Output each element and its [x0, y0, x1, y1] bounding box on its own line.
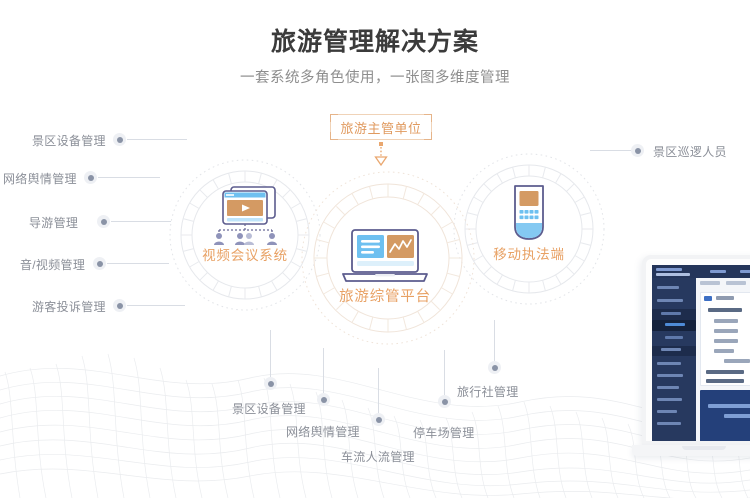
- bottom-connector-4: [494, 320, 495, 362]
- bottom-label-2: 车流人流管理: [341, 448, 415, 465]
- left-connector-3: [107, 263, 169, 264]
- badge-label: 旅游主管单位: [340, 118, 421, 137]
- laptop-hinge-notch: [682, 446, 726, 450]
- badge-corner-bottom-right: [424, 132, 432, 140]
- left-node-dot-1: [84, 171, 97, 184]
- bottom-label-0: 景区设备管理: [232, 400, 306, 417]
- bottom-node-dot-3: [438, 395, 451, 408]
- bottom-label-3: 停车场管理: [413, 424, 475, 441]
- laptop-screen: [642, 255, 750, 445]
- right-node-dot-0: [631, 144, 644, 157]
- left-node-dot-4: [113, 299, 126, 312]
- bottom-node-dot-1: [317, 393, 330, 406]
- dashboard-content: [696, 278, 750, 441]
- badge-corner-top-right: [424, 114, 432, 122]
- bottom-node-dot-0: [264, 377, 277, 390]
- bottom-connector-1: [323, 348, 324, 394]
- left-label-1: 网络舆情管理: [3, 170, 77, 187]
- bottom-node-dot-2: [372, 413, 385, 426]
- laptop-product-mockup: [642, 255, 750, 480]
- left-node-dot-0: [113, 133, 126, 146]
- left-label-2: 导游管理: [29, 214, 78, 231]
- bottom-connector-3: [444, 350, 445, 396]
- dashboard-sidebar: [652, 278, 696, 441]
- left-connector-1: [98, 177, 160, 178]
- left-connector-2: [111, 221, 171, 222]
- dashboard-ui-preview: [652, 265, 750, 441]
- down-arrow-icon: [370, 142, 392, 168]
- left-connector-0: [127, 139, 187, 140]
- left-label-0: 景区设备管理: [32, 132, 106, 149]
- right-connector-0: [590, 150, 632, 151]
- left-connector-4: [127, 305, 185, 306]
- left-label-3: 音/视频管理: [20, 256, 85, 273]
- left-node-dot-2: [97, 215, 110, 228]
- caption-mobile-enforcement: 移动执法端: [453, 243, 605, 263]
- left-node-dot-3: [93, 257, 106, 270]
- bottom-label-4: 旅行社管理: [457, 383, 519, 400]
- bottom-label-1: 网络舆情管理: [286, 423, 360, 440]
- bottom-connector-2: [378, 368, 379, 414]
- right-label-0: 景区巡逻人员: [653, 143, 727, 160]
- badge-corner-top-left: [330, 114, 338, 122]
- bottom-node-dot-4: [488, 361, 501, 374]
- caption-video-conference: 视频会议系统: [169, 244, 321, 264]
- bottom-connector-0: [270, 330, 271, 378]
- infographic-canvas: 旅游管理解决方案 一套系统多角色使用，一张图多维度管理: [0, 0, 750, 498]
- badge-corner-bottom-left: [330, 132, 338, 140]
- dashboard-topbar: [652, 265, 750, 278]
- left-label-4: 游客投诉管理: [32, 298, 106, 315]
- video-window-icon: [205, 185, 287, 252]
- mobile-device-icon: [503, 183, 555, 250]
- page-title: 旅游管理解决方案: [0, 22, 750, 58]
- caption-tourism-platform: 旅游综管平台: [310, 285, 460, 306]
- page-subtitle: 一套系统多角色使用，一张图多维度管理: [0, 66, 750, 87]
- badge-supervisory-unit[interactable]: 旅游主管单位: [330, 114, 432, 140]
